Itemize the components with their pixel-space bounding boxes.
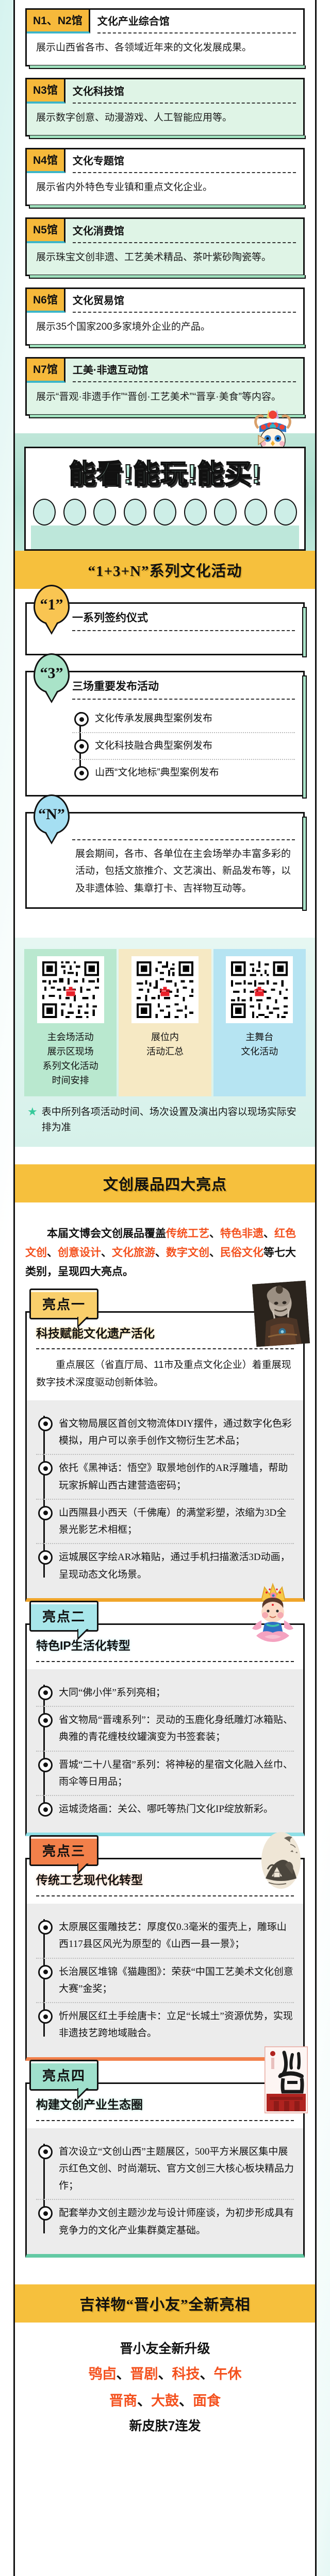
- pavilion-title: 文化产业综合馆: [97, 15, 296, 28]
- pin-marker-1: “1”: [34, 585, 70, 625]
- list-item-text: 山西“文化地标”典型案例发布: [95, 765, 295, 781]
- highlight-body: 首次设立“文创山西”主题展区，500平方米展区集中展示红色文创、时尚潮玩、官方文…: [27, 2128, 303, 2254]
- bullet-timeline: 太原展区蛋雕技艺：厚度仅0.3毫米的蛋壳上，雕琢山西117县区风光为原型的《山西…: [36, 1908, 294, 2048]
- bullet-dot-icon: [38, 1802, 53, 1817]
- activity-item: “1” 一系列签约仪式: [25, 602, 305, 655]
- qr-panel: 主会场活动 展示区现场 系列文化活动 时间安排: [15, 938, 315, 1147]
- list-item-text: 文化科技融合典型案例发布: [95, 738, 295, 754]
- divider-dashed: [97, 32, 296, 33]
- qr-card[interactable]: 展位内 活动汇总: [119, 949, 211, 1096]
- list-item: 大同“佛小伴”系列亮相；: [36, 1680, 294, 1706]
- pavilion-desc: 展示数字创意、动漫游戏、人工智能应用等。: [27, 104, 303, 135]
- pavilion-desc: 展示35个国家200多家境外企业的产品。: [27, 313, 303, 344]
- pavilion-title-wrap: 工美·非遗互动馆: [65, 359, 303, 382]
- pavilion-card: N3馆 文化科技馆 展示数字创意、动漫游戏、人工智能应用等。: [25, 78, 305, 136]
- nezha-mascot-icon: [244, 1580, 302, 1645]
- pavilion-list: N1、N2馆 文化产业综合馆 展示山西省各市、各领域近年来的文化发展成果。 N3…: [15, 0, 315, 430]
- dot: [63, 499, 86, 526]
- activity-heading: 三场重要发布活动: [72, 680, 295, 693]
- bullet-dot-icon: [38, 1920, 53, 1935]
- pavilion-header: N5馆 文化消费馆: [27, 219, 303, 243]
- bullet-timeline: 省文物局展区首创文物流体DIY摆件，通过数字化色彩模拟，用户可以亲手创作文物衍生…: [36, 1404, 294, 1589]
- dot: [184, 499, 207, 526]
- dot-strip: [31, 490, 299, 526]
- pavilion-card: N1、N2馆 文化产业综合馆 展示山西省各市、各领域近年来的文化发展成果。: [25, 8, 305, 66]
- category-tag: 创意设计: [58, 1247, 101, 1259]
- divider-dashed: [73, 381, 296, 382]
- pavilion-tag: N5馆: [27, 219, 65, 243]
- highlight-block: 亮点二: [25, 1623, 305, 1836]
- pin-tail-fill: [46, 690, 57, 701]
- highlight-body: 太原展区蛋雕技艺：厚度仅0.3毫米的蛋壳上，雕琢山西117县区风光为原型的《山西…: [27, 1904, 303, 2057]
- mascot-line-1: 晋小友全新升级: [25, 2337, 305, 2362]
- list-item-text: 忻州展区红土手绘唐卡：立足“长城土”资源优势，实现非遗技艺跨地域融合。: [59, 2008, 294, 2042]
- highlight-cards: 亮点一: [15, 1296, 315, 2284]
- sep: 、: [155, 1247, 166, 1259]
- bullet-dot-icon: [38, 1713, 53, 1727]
- mascot-line-3: 晋商、大鼓、面食: [25, 2388, 305, 2414]
- qr-code-icon[interactable]: [131, 956, 199, 1023]
- panel-filler: [31, 526, 299, 549]
- dot: [154, 499, 176, 526]
- highlight-flag: 亮点一: [29, 1289, 98, 1319]
- page-frame: N1、N2馆 文化产业综合馆 展示山西省各市、各领域近年来的文化发展成果。 N3…: [13, 0, 317, 2576]
- bullet-dot-icon: [74, 712, 89, 726]
- list-item-text: 运城烫烙画：关公、哪吒等热门文化IP绽放新彩。: [59, 1801, 294, 1818]
- pavilion-tag: N3馆: [27, 79, 65, 103]
- dot: [124, 499, 146, 526]
- dot: [274, 499, 297, 526]
- category-tag: 文化旅游: [112, 1247, 155, 1259]
- highlight-block: 亮点三 传统工艺现代化转型: [25, 1858, 305, 2060]
- list-item-text: 长治展区堆锦《猫趣图》：荣获“中国工艺美术文化创意大赛”金奖；: [59, 1963, 294, 1998]
- skin-tag: 科技: [172, 2366, 200, 2382]
- sep: 、: [200, 2366, 214, 2382]
- dot: [93, 499, 116, 526]
- pavilion-title: 文化贸易馆: [73, 294, 296, 308]
- dot: [214, 499, 237, 526]
- eggshell-photo: [254, 1829, 308, 1892]
- sep: 、: [263, 1228, 274, 1240]
- category-tag: 民俗文化: [220, 1247, 263, 1259]
- bullet-timeline: 大同“佛小伴”系列亮相； 省文物局“晋魂系列”：灵动的玉鹿化身纸雕灯冰箱贴、典雅…: [36, 1673, 294, 1824]
- list-item: 山西“文化地标”典型案例发布: [72, 759, 295, 786]
- pin-marker-3: “3”: [34, 653, 70, 693]
- highlight-body: 省文物局展区首创文物流体DIY摆件，通过数字化色彩模拟，用户可以亲手创作文物衍生…: [27, 1400, 303, 1598]
- activity-item: “3” 三场重要发布活动 文化传承发展典型案例发布 文化科技融合典型案例发布: [25, 671, 305, 796]
- bullet-dot-icon: [38, 1417, 53, 1431]
- list-item: 文化科技融合典型案例发布: [72, 732, 295, 759]
- highlight-body: 大同“佛小伴”系列亮相； 省文物局“晋魂系列”：灵动的玉鹿化身纸雕灯冰箱贴、典雅…: [27, 1669, 303, 1833]
- pavilion-tag: N1、N2馆: [27, 10, 90, 33]
- qr-caption: 主会场活动 展示区现场 系列文化活动 时间安排: [27, 1030, 113, 1088]
- bullet-dot-icon: [38, 2145, 53, 2159]
- pin-tail-fill: [46, 832, 57, 842]
- pavilion-title-wrap: 文化专题馆: [65, 149, 303, 173]
- pavilion-card: N5馆 文化消费馆 展示珠宝文创非遗、工艺美术精品、茶叶紫砂陶瓷等。: [25, 217, 305, 276]
- highlight-card: 科技赋能文化遗产活化 重点展区（省直厅局、11市及重点文化企业）着重展现数字技术…: [25, 1311, 305, 1602]
- skin-tag: 午休: [214, 2366, 242, 2382]
- list-item: 省文物局展区首创文物流体DIY摆件，通过数字化色彩模拟，用户可以亲手创作文物衍生…: [36, 1411, 294, 1454]
- intro-pre: 本届文博会文创展品覆盖: [47, 1228, 166, 1240]
- category-tag: 传统工艺: [166, 1228, 209, 1240]
- highlight-flag: 亮点四: [29, 2060, 98, 2091]
- star-icon: ★: [27, 1105, 38, 1119]
- pavilion-title-wrap: 文化消费馆: [65, 219, 303, 243]
- sep: 、: [101, 1247, 112, 1259]
- highlight-flag: 亮点三: [29, 1835, 98, 1866]
- mascot-line-4: 新皮肤7连发: [25, 2414, 305, 2439]
- bullet-timeline: 首次设立“文创山西”主题展区，500平方米展区集中展示红色文创、时尚潮玩、官方文…: [36, 2132, 294, 2245]
- list-item: 山西隰县小西天（千佛庵）的满堂彩塑，浓缩为3D全景光影艺术相框；: [36, 1499, 294, 1544]
- bullet-dot-icon: [38, 1758, 53, 1772]
- activity-item: “N” 展会期间，各市、各单位在主会场举办丰富多彩的活动，包括文旅推介、文艺演出…: [25, 812, 305, 909]
- pavilion-desc: 展示珠宝文创非遗、工艺美术精品、茶叶紫砂陶瓷等。: [27, 243, 303, 275]
- skin-tag: 晋商: [109, 2393, 137, 2409]
- divider-dashed: [73, 242, 296, 243]
- highlight-title: 构建文创产业生态圈: [36, 2097, 294, 2113]
- pin-tail-fill: [46, 622, 57, 632]
- pavilion-tag: N7馆: [27, 359, 65, 382]
- list-item-text: 山西隰县小西天（千佛庵）的满堂彩塑，浓缩为3D全景光影艺术相框；: [59, 1504, 294, 1539]
- slogan-text: 能看!能玩!能买!: [31, 460, 299, 490]
- pin-label: “1”: [40, 596, 63, 614]
- pavilion-desc: 展示省内外特色专业镇和重点文化企业。: [27, 173, 303, 205]
- pavilion-title: 工美·非遗互动馆: [73, 364, 296, 377]
- pavilion-tag: N4馆: [27, 149, 65, 173]
- list-item: 长治展区堆锦《猫趣图》：荣获“中国工艺美术文化创意大赛”金奖；: [36, 1958, 294, 2003]
- section-header-mascot: 吉祥物“晋小友”全新亮相: [15, 2284, 315, 2323]
- divider-dashed: [73, 312, 296, 313]
- skin-tag: 晋剧: [130, 2366, 158, 2382]
- list-item: 太原展区蛋雕技艺：厚度仅0.3毫米的蛋壳上，雕琢山西117县区风光为原型的《山西…: [36, 1914, 294, 1958]
- pavilion-title: 文化专题馆: [73, 155, 296, 168]
- pin-marker-n: “N”: [34, 794, 70, 835]
- sep: 、: [209, 1228, 220, 1240]
- pavilion-title-wrap: 文化科技馆: [65, 79, 303, 103]
- bullet-dot-icon: [38, 1461, 53, 1476]
- sep: 、: [137, 2393, 151, 2409]
- pavilion-title: 文化消费馆: [73, 225, 296, 238]
- mascot-line-2: 鸮卣、晋剧、科技、午休: [25, 2361, 305, 2387]
- list-item-text: 晋城“二十八星宿”系列：将神秘的星宿文化融入丝巾、雨伞等日用品；: [59, 1756, 294, 1791]
- mascot-footer: 晋小友全新升级 鸮卣、晋剧、科技、午休 晋商、大鼓、面食 新皮肤7连发: [15, 2323, 315, 2460]
- divider-dashed: [73, 172, 296, 173]
- list-item: 配套举办文创主题沙龙与设计师座谈，为初步形成具有竞争力的文化产业集群奠定基础。: [36, 2199, 294, 2244]
- list-item: 运城烫烙画：关公、哪吒等热门文化IP绽放新彩。: [36, 1795, 294, 1822]
- list-item-text: 依托《黑神话：悟空》取景地创作的AR浮雕墙，帮助玩家拆解山西古建营造密码；: [59, 1460, 294, 1494]
- sep: 、: [47, 1247, 58, 1259]
- pavilion-title: 文化科技馆: [73, 85, 296, 98]
- footnote-text: 表中所列各项活动时间、场次设置及演出内容以现场实际安排为准: [42, 1105, 303, 1136]
- slogan-panel: 能看!能玩!能买!: [24, 447, 306, 551]
- list-item: 省文物局“晋魂系列”：灵动的玉鹿化身纸雕灯冰箱贴、典雅的青花缠枝纹罐演变为书签套…: [36, 1706, 294, 1751]
- activity-list: “1” 一系列签约仪式 “3” 三场重要发布活动: [15, 589, 315, 928]
- bullet-dot-icon: [74, 739, 89, 754]
- pavilion-title-wrap: 文化贸易馆: [65, 289, 303, 313]
- bullet-dot-icon: [38, 1965, 53, 1979]
- pin-label: “3”: [40, 665, 63, 682]
- sep: 、: [117, 2366, 130, 2382]
- list-item-text: 省文物局“晋魂系列”：灵动的玉鹿化身纸雕灯冰箱贴、典雅的青花缠枝纹罐演变为书签套…: [59, 1711, 294, 1746]
- highlight-block: 亮点四: [25, 2082, 305, 2258]
- list-item: 文化传承发展典型案例发布: [72, 706, 295, 732]
- list-item-text: 大同“佛小伴”系列亮相；: [59, 1684, 294, 1701]
- skin-tag: 面食: [193, 2393, 221, 2409]
- list-item-text: 配套举办文创主题沙龙与设计师座谈，为初步形成具有竞争力的文化产业集群奠定基础。: [59, 2205, 294, 2239]
- pavilion-title-wrap: 文化产业综合馆: [90, 10, 303, 33]
- highlight-flag: 亮点二: [29, 1601, 98, 1632]
- highlight-card: 构建文创产业生态圈 首次设立“文创山西”主题展区，500平方米展区集中展示红色文…: [25, 2082, 305, 2258]
- list-item-text: 太原展区蛋雕技艺：厚度仅0.3毫米的蛋壳上，雕琢山西117县区风光为原型的《山西…: [59, 1919, 294, 1953]
- skin-tag: 鸮卣: [89, 2366, 117, 2382]
- pavilion-card: N4馆 文化专题馆 展示省内外特色专业镇和重点文化企业。: [25, 148, 305, 206]
- highlight-card: 特色IP生活化转型 大同“佛小伴”系列亮相； 省文物局“晋魂系列”：灵动的玉鹿化…: [25, 1623, 305, 1836]
- qr-card[interactable]: 主舞台 文化活动: [213, 949, 306, 1096]
- wukong-photo: [252, 1280, 310, 1347]
- activity-paragraph: 展会期间，各市、各单位在主会场举办丰富多彩的活动，包括文旅推介、文艺演出、新品发…: [72, 840, 295, 899]
- bullet-dot-icon: [38, 2009, 53, 2024]
- list-item-text: 省文物局展区首创文物流体DIY摆件，通过数字化色彩模拟，用户可以亲手创作文物衍生…: [59, 1415, 294, 1450]
- pavilion-header: N1、N2馆 文化产业综合馆: [27, 10, 303, 33]
- qr-row: 主会场活动 展示区现场 系列文化活动 时间安排: [24, 949, 306, 1096]
- infographic-page: N1、N2馆 文化产业综合馆 展示山西省各市、各领域近年来的文化发展成果。 N3…: [0, 0, 330, 2576]
- pavilion-header: N6馆 文化贸易馆: [27, 289, 303, 313]
- bullet-timeline: 文化传承发展典型案例发布 文化科技融合典型案例发布 山西“文化地标”典型案例发布: [72, 700, 295, 787]
- list-item-text: 首次设立“文创山西”主题展区，500平方米展区集中展示红色文创、时尚潮玩、官方文…: [59, 2143, 294, 2195]
- qr-code-icon[interactable]: [37, 956, 104, 1023]
- dot: [33, 499, 56, 526]
- section-header-highlights: 文创展品四大亮点: [15, 1164, 315, 1202]
- sep: 、: [209, 1247, 220, 1259]
- highlight-lead: 重点展区（省直厅局、11市及重点文化企业）着重展现数字技术深度驱动创新体验。: [27, 1349, 303, 1400]
- divider-dashed: [73, 103, 296, 104]
- sep: 、: [179, 2393, 193, 2409]
- sep: 、: [158, 2366, 172, 2382]
- category-tag: 特色非遗: [220, 1228, 263, 1240]
- pavilion-header: N3馆 文化科技馆: [27, 79, 303, 103]
- section-header-activities: “1+3+N”系列文化活动: [15, 551, 315, 589]
- bullet-dot-icon: [38, 2206, 53, 2221]
- pavilion-header: N4馆 文化专题馆: [27, 149, 303, 173]
- list-item: 晋城“二十八星宿”系列：将神秘的星宿文化融入丝巾、雨伞等日用品；: [36, 1751, 294, 1795]
- footnote: ★ 表中所列各项活动时间、场次设置及演出内容以现场实际安排为准: [24, 1096, 306, 1138]
- qr-caption: 展位内 活动汇总: [122, 1030, 208, 1059]
- category-tag: 数字文创: [166, 1247, 209, 1259]
- pavilion-header: N7馆 工美·非遗互动馆: [27, 359, 303, 382]
- activity-heading: 一系列签约仪式: [72, 611, 295, 625]
- bullet-dot-icon: [38, 1686, 53, 1700]
- pavilion-desc: 展示山西省各市、各领域近年来的文化发展成果。: [27, 33, 303, 65]
- list-item-text: 运城展区字绘AR冰箱贴，通过手机扫描激活3D动画，呈现动态文化场景。: [59, 1549, 294, 1583]
- highlights-intro: 本届文博会文创展品覆盖传统工艺、特色非遗、红色文创、创意设计、文化旅游、数字文创…: [15, 1213, 315, 1284]
- qr-card[interactable]: 主会场活动 展示区现场 系列文化活动 时间安排: [24, 949, 117, 1096]
- pavilion-card: N6馆 文化贸易馆 展示35个国家200多家境外企业的产品。: [25, 287, 305, 346]
- slogan-band: 能看!能玩!能买!: [15, 433, 315, 551]
- pavilion-tag: N6馆: [27, 289, 65, 313]
- shanxi-poster: [265, 2046, 308, 2113]
- bullet-dot-icon: [38, 1550, 53, 1565]
- pin-label: “N”: [38, 806, 65, 823]
- list-item: 依托《黑神话：悟空》取景地创作的AR浮雕墙，帮助玩家拆解山西古建营造密码；: [36, 1454, 294, 1499]
- bullet-dot-icon: [38, 1506, 53, 1520]
- dot: [244, 499, 267, 526]
- list-item: 忻州展区红土手绘唐卡：立足“长城土”资源优势，实现非遗技艺跨地域融合。: [36, 2002, 294, 2047]
- bullet-dot-icon: [74, 766, 89, 781]
- highlight-block: 亮点一: [25, 1311, 305, 1602]
- qr-caption: 主舞台 文化活动: [217, 1030, 303, 1059]
- list-item: 首次设立“文创山西”主题展区，500平方米展区集中展示红色文创、时尚潮玩、官方文…: [36, 2139, 294, 2199]
- list-item-text: 文化传承发展典型案例发布: [95, 710, 295, 727]
- qr-code-icon[interactable]: [226, 956, 293, 1023]
- skin-tag: 大鼓: [151, 2393, 179, 2409]
